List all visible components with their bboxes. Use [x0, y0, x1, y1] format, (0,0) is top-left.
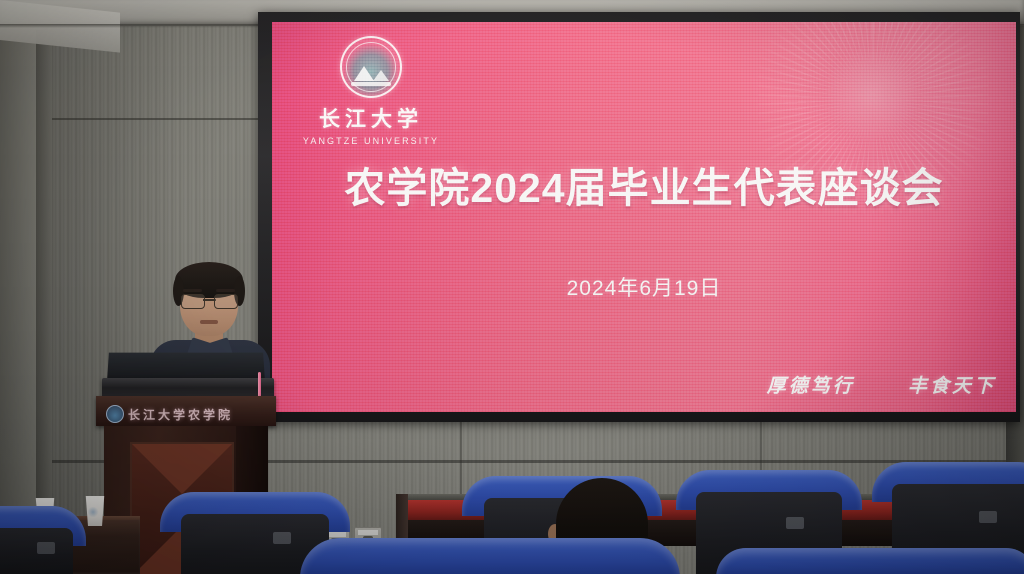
- wall-left-column-shadow: [36, 30, 52, 574]
- motto-left: 厚德笃行: [767, 371, 855, 398]
- motto-right: 丰食天下: [908, 371, 996, 398]
- university-seal-icon: [340, 36, 402, 98]
- university-name-en: YANGTZE UNIVERSITY: [296, 136, 446, 146]
- speaker-eyebrow: [216, 289, 235, 292]
- college-emblem-icon: [106, 405, 124, 423]
- podium-label: 长江大学农学院: [128, 406, 233, 423]
- lecture-hall-photo: 长江大学 YANGTZE UNIVERSITY 农学院2024届毕业生代表座谈会…: [0, 0, 1024, 574]
- foreground-chair: [300, 538, 680, 574]
- firework-glow-icon: [824, 46, 920, 142]
- led-screen: 长江大学 YANGTZE UNIVERSITY 农学院2024届毕业生代表座谈会…: [272, 22, 1016, 412]
- audience-chair: [0, 506, 86, 574]
- laptop-screen: [107, 353, 265, 380]
- wall-left-column: [0, 26, 40, 574]
- glasses-icon: [181, 294, 238, 307]
- foreground-chair: [716, 548, 1024, 574]
- speaker-eyebrow: [183, 289, 202, 292]
- speaker-mouth: [200, 320, 218, 324]
- event-title: 农学院2024届毕业生代表座谈会: [272, 154, 1016, 214]
- university-logo: 长江大学 YANGTZE UNIVERSITY: [296, 36, 446, 146]
- speaker-hair: [175, 262, 243, 298]
- motto: 厚德笃行 丰食天下: [767, 371, 996, 398]
- podium-nameplate: 长江大学农学院: [102, 404, 270, 422]
- university-name-cn: 长江大学: [296, 103, 446, 133]
- event-date: 2024年6月19日: [272, 272, 1016, 302]
